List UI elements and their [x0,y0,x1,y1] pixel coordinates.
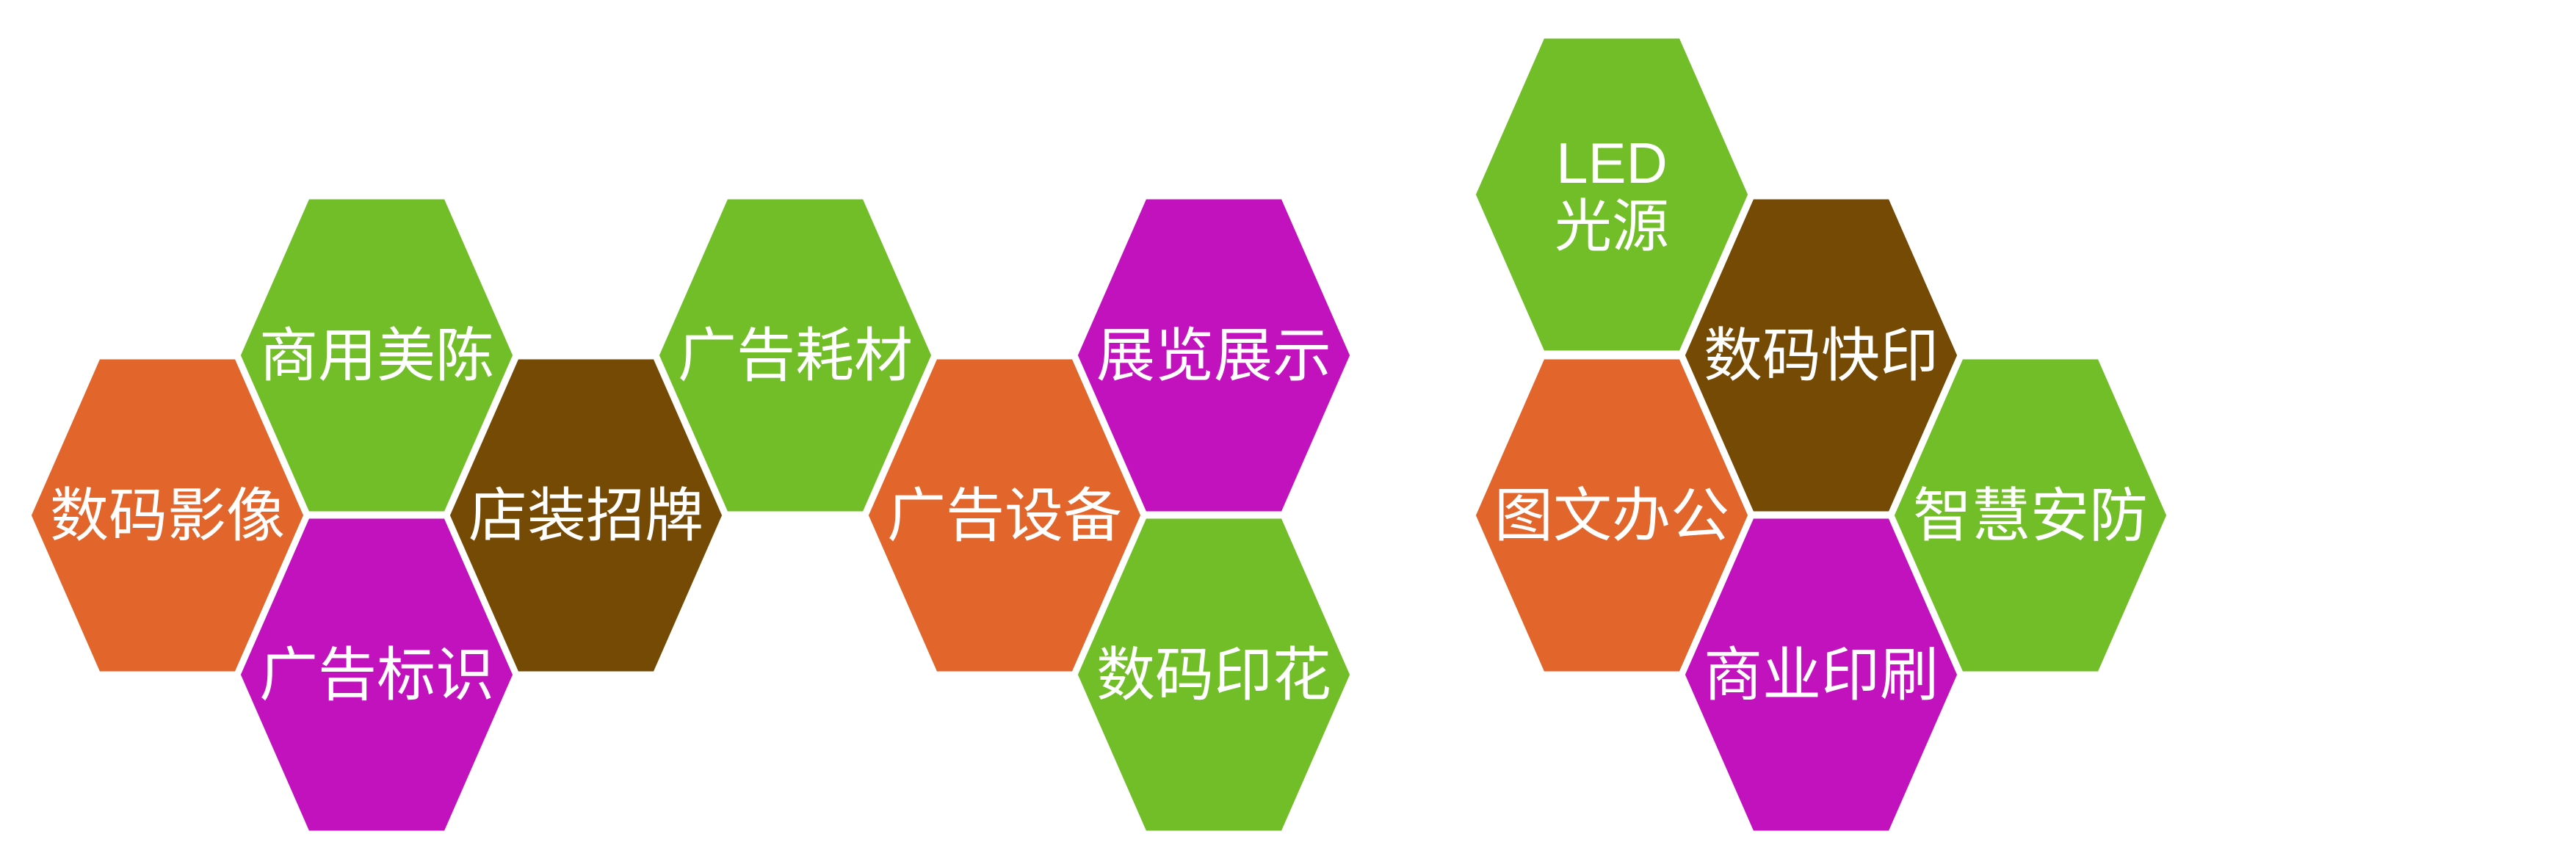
hex-label-graphics-office: 图文办公 [1494,483,1729,548]
hex-label-line: 商业印刷 [1704,642,1939,708]
hex-label-line: 商用美陈 [259,323,494,388]
hex-label-digital-imaging: 数码影像 [50,483,285,548]
hex-label-line: 数码快印 [1704,323,1939,388]
hex-label-advertising-signage: 广告标识 [259,642,494,708]
hex-label-line: 广告标识 [259,642,494,708]
hex-label-smart-security: 智慧安防 [1913,483,2148,548]
hex-label-commercial-display: 商用美陈 [259,323,494,388]
hex-label-exhibition-display: 展览展示 [1096,323,1331,388]
hex-label-line: 智慧安防 [1913,483,2148,548]
hex-label-line: LED [1556,131,1668,195]
hex-label-digital-quick-print: 数码快印 [1704,323,1939,388]
hex-label-line: 广告耗材 [678,323,913,388]
hexagon-grid: 数码影像商用美陈广告标识店装招牌广告耗材广告设备展览展示数码印花LED光源图文办… [0,0,2576,867]
hex-label-line: 数码印花 [1096,642,1331,708]
hex-label-shop-decoration-signboard: 店装招牌 [468,483,703,548]
hex-label-line: 店装招牌 [468,483,703,548]
hex-label-line: 展览展示 [1096,323,1331,388]
hex-label-line: 数码影像 [50,483,285,548]
hex-label-line: 光源 [1555,194,1669,258]
hex-label-line: 广告设备 [887,483,1122,548]
hex-label-advertising-consumables: 广告耗材 [678,323,913,388]
hex-label-commercial-printing: 商业印刷 [1704,642,1939,708]
hex-label-line: 图文办公 [1494,483,1729,548]
hex-label-advertising-equipment: 广告设备 [887,483,1122,548]
hex-label-led-light-source: LED光源 [1555,131,1669,258]
hex-label-digital-printing-textile: 数码印花 [1096,642,1331,708]
hexagon-diagram-canvas: 数码影像商用美陈广告标识店装招牌广告耗材广告设备展览展示数码印花LED光源图文办… [0,0,2576,867]
